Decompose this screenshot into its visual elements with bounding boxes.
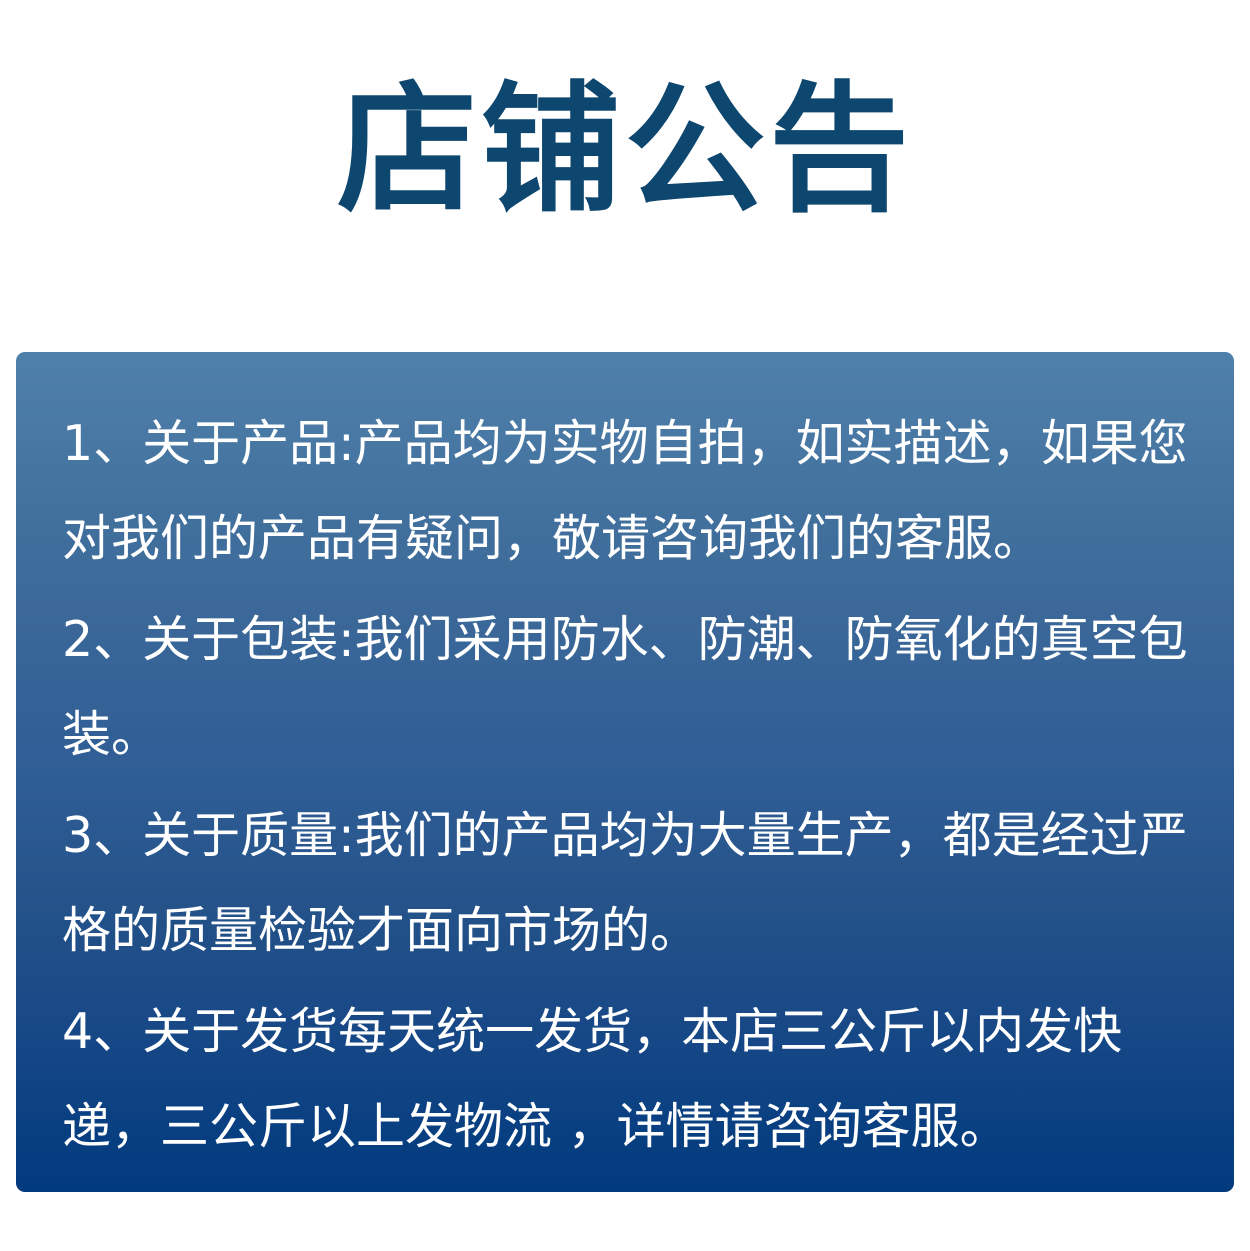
list-item: 2、关于包装:我们采用防水、防潮、防氧化的真空包装。 xyxy=(62,592,1194,782)
list-item: 1、关于产品:产品均为实物自拍，如实描述，如果您对我们的产品有疑问，敬请咨询我们… xyxy=(62,396,1194,586)
announcement-panel: 1、关于产品:产品均为实物自拍，如实描述，如果您对我们的产品有疑问，敬请咨询我们… xyxy=(16,352,1234,1192)
list-item: 4、关于发货每天统一发货，本店三公斤以内发快递，三公斤以上发物流 ，详情请咨询客… xyxy=(62,984,1194,1174)
notice-list: 1、关于产品:产品均为实物自拍，如实描述，如果您对我们的产品有疑问，敬请咨询我们… xyxy=(62,396,1194,1174)
list-item: 3、关于质量:我们的产品均为大量生产，都是经过严格的质量检验才面向市场的。 xyxy=(62,788,1194,978)
announcement-page: 店铺公告 1、关于产品:产品均为实物自拍，如实描述，如果您对我们的产品有疑问，敬… xyxy=(0,0,1250,1251)
page-title: 店铺公告 xyxy=(337,77,913,224)
page-title-area: 店铺公告 xyxy=(0,0,1250,300)
